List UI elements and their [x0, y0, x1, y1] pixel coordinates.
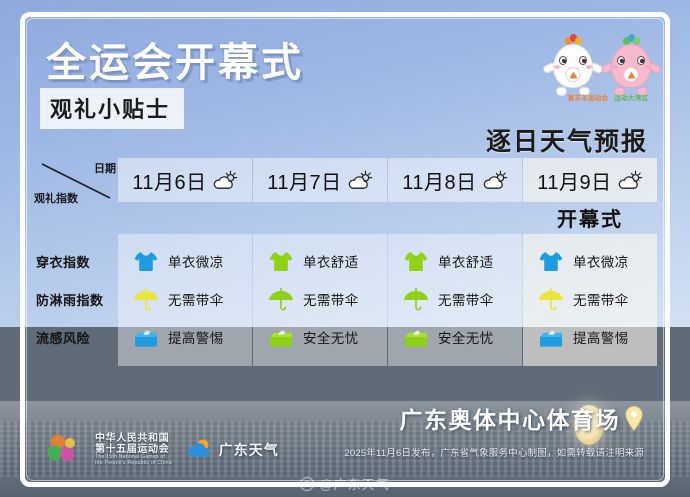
mascot-left-name: 喜羊羊运动会 — [568, 92, 609, 102]
cell-value: 单衣舒适 — [303, 251, 359, 271]
cell-clothing-2: 单衣舒适 — [388, 242, 522, 280]
row-label-2: 流感风险 — [36, 318, 118, 356]
weather-poster: 全运会开幕式 观礼小贴士 — [0, 0, 690, 497]
sun-cloud-icon — [347, 170, 373, 190]
mascot-pink-icon — [603, 34, 659, 96]
subtitle-banner: 观礼小贴士 — [40, 88, 184, 129]
national-games-logo: 中华人民共和国 第十五届运动会 The 15th National Games … — [46, 433, 172, 467]
row-label-0: 穿衣指数 — [36, 242, 118, 280]
cell-value: 提高警惕 — [573, 327, 629, 347]
cell-value: 提高警惕 — [168, 327, 224, 347]
mascot-white-eye-right — [579, 56, 587, 65]
ceremony-tag-1 — [253, 202, 387, 232]
mascot-white-cheek-left — [554, 65, 560, 69]
cell-value: 无需带伞 — [438, 289, 494, 309]
cell-flu-1: 安全无忧 — [253, 318, 387, 356]
games-cn-line1: 中华人民共和国 — [95, 433, 172, 444]
row-label-1: 防淋雨指数 — [36, 280, 118, 318]
umbrella-icon — [266, 285, 296, 313]
table-corner-cell: 日期 观礼指数 — [36, 158, 118, 202]
mascot-group: 喜羊羊运动会 运动大湾区 — [543, 26, 673, 104]
weather-sun-cloud-logo-icon — [188, 437, 214, 463]
column-header-0: 11月6日 — [118, 158, 252, 202]
cell-rain-0: 无需带伞 — [118, 280, 252, 318]
footer-logos: 中华人民共和国 第十五届运动会 The 15th National Games … — [46, 433, 279, 467]
umbrella-icon — [536, 285, 566, 313]
sun-cloud-icon — [212, 170, 238, 190]
mascot-white-cheek-right — [586, 65, 592, 69]
cell-flu-0: 提高警惕 — [118, 318, 252, 356]
ceremony-tag-2 — [388, 202, 522, 232]
venue-block: 广东奥体中心体育场 — [400, 401, 645, 435]
cell-value: 安全无忧 — [438, 327, 494, 347]
mascot-white-icon — [545, 34, 601, 96]
forecast-heading: 逐日天气预报 — [486, 122, 648, 158]
cell-clothing-3: 单衣微凉 — [523, 242, 657, 280]
corner-date-label: 日期 — [94, 160, 116, 176]
tissue-box-icon — [266, 323, 296, 351]
mascot-pink-eye-right — [637, 56, 645, 65]
data-column-0: 单衣微凉 无需带伞 — [118, 234, 252, 366]
cell-value: 无需带伞 — [168, 289, 224, 309]
page-title: 全运会开幕式 — [46, 30, 304, 88]
umbrella-icon — [131, 285, 161, 313]
mascot-caption: 喜羊羊运动会 运动大湾区 — [543, 92, 673, 102]
shirt-icon — [131, 247, 161, 275]
data-column-3: 单衣微凉 无需带伞 — [523, 234, 657, 366]
sun-cloud-icon — [482, 170, 508, 190]
data-column-1: 单衣舒适 无需带伞 — [253, 234, 387, 366]
mascot-white-emblem-icon — [566, 67, 581, 82]
weather-brand-name: 广东天气 — [219, 440, 279, 460]
mascot-pink-emblem-icon — [624, 67, 639, 82]
mascot-pink-cheek-left — [612, 65, 618, 69]
date-label-3: 11月9日 — [537, 166, 611, 195]
row-label-column: 穿衣指数 防淋雨指数 流感风险 — [36, 234, 118, 366]
disclaimer-text: 2025年11月6日发布，广东省气象服务中心制图，如需转载请注明来源 — [344, 445, 644, 459]
games-logo-text: 中华人民共和国 第十五届运动会 The 15th National Games … — [95, 433, 172, 467]
corner-index-label: 观礼指数 — [34, 190, 78, 206]
watermark-handle: @广东天气 — [319, 474, 389, 493]
weibo-watermark: @广东天气 — [0, 474, 690, 493]
sun-cloud-icon — [617, 170, 643, 190]
games-emblem-icon — [46, 433, 88, 467]
cell-value: 安全无忧 — [303, 327, 359, 347]
cell-value: 无需带伞 — [303, 289, 359, 309]
column-header-1: 11月7日 — [253, 158, 387, 202]
cell-value: 无需带伞 — [573, 289, 629, 309]
shirt-icon — [536, 247, 566, 275]
games-en-line2: the People's Republic of China — [95, 461, 172, 467]
location-pin-icon — [624, 405, 644, 432]
shirt-icon — [266, 247, 296, 275]
ceremony-tag-row: 开幕式 — [36, 202, 656, 232]
cell-clothing-1: 单衣舒适 — [253, 242, 387, 280]
venue-name: 广东奥体中心体育场 — [400, 401, 621, 435]
data-column-2: 单衣舒适 无需带伞 — [388, 234, 522, 366]
table-body: 穿衣指数 防淋雨指数 流感风险 单衣微凉 — [36, 234, 656, 366]
table-header-row: 日期 观礼指数 11月6日 — [36, 158, 656, 202]
cell-flu-3: 提高警惕 — [523, 318, 657, 356]
ceremony-tag-0 — [118, 202, 252, 232]
mascot-pink-cheek-right — [644, 65, 650, 69]
tissue-box-icon — [401, 323, 431, 351]
mascot-white-eye-left — [559, 56, 567, 65]
column-header-2: 11月8日 — [388, 158, 522, 202]
cell-flu-2: 安全无忧 — [388, 318, 522, 356]
page-subtitle: 观礼小贴士 — [50, 92, 170, 124]
shirt-icon — [401, 247, 431, 275]
mascot-right-name: 运动大湾区 — [614, 92, 648, 102]
cell-value: 单衣舒适 — [438, 251, 494, 271]
date-label-2: 11月8日 — [402, 166, 476, 195]
tissue-box-icon — [131, 323, 161, 351]
ceremony-tag-3: 开幕式 — [523, 202, 657, 232]
mascot-pink-eye-left — [617, 56, 625, 65]
guangdong-weather-logo: 广东天气 — [188, 437, 279, 463]
cell-rain-3: 无需带伞 — [523, 280, 657, 318]
cell-value: 单衣微凉 — [573, 251, 629, 271]
umbrella-icon — [401, 285, 431, 313]
cell-value: 单衣微凉 — [168, 251, 224, 271]
column-header-3: 11月9日 — [523, 158, 657, 202]
weibo-icon — [300, 477, 314, 491]
forecast-table: 日期 观礼指数 11月6日 — [36, 158, 656, 366]
cell-rain-1: 无需带伞 — [253, 280, 387, 318]
cell-rain-2: 无需带伞 — [388, 280, 522, 318]
cell-clothing-0: 单衣微凉 — [118, 242, 252, 280]
date-label-0: 11月6日 — [132, 166, 206, 195]
tissue-box-icon — [536, 323, 566, 351]
date-label-1: 11月7日 — [267, 166, 341, 195]
